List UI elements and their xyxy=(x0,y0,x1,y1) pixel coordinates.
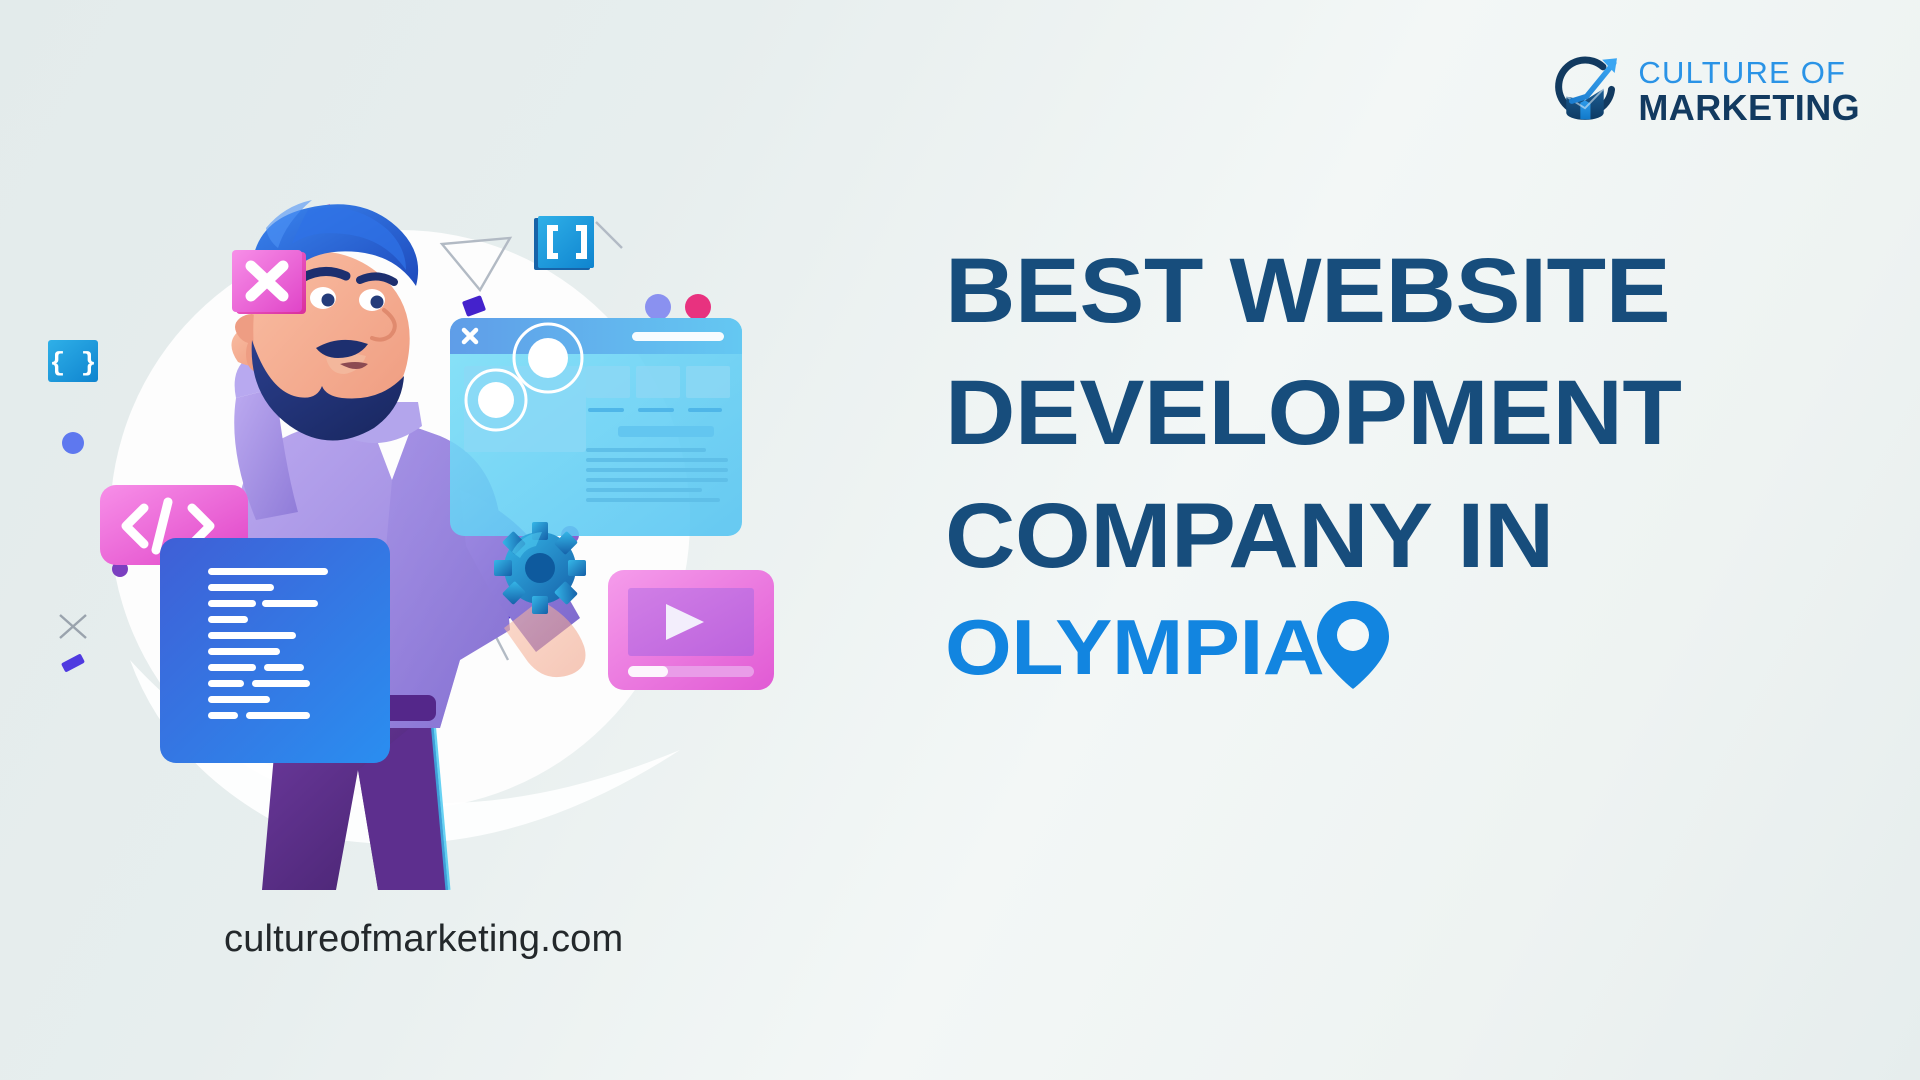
address-bar xyxy=(632,332,724,341)
video-player-card xyxy=(608,570,774,690)
browser-window-card xyxy=(450,318,742,536)
headline-line-3: COMPANY IN xyxy=(945,475,1920,597)
dot-blue xyxy=(62,432,84,454)
progress-bar xyxy=(628,666,668,677)
logo-text-line1: CULTURE OF xyxy=(1638,57,1860,88)
code-lines-card xyxy=(160,538,390,763)
headline-line-2: DEVELOPMENT xyxy=(945,352,1920,474)
headline-city-row: OLYMPIA xyxy=(945,597,1865,698)
dot-magenta xyxy=(685,294,711,320)
dash-blue xyxy=(61,653,85,672)
website-url[interactable]: cultureofmarketing.com xyxy=(224,918,623,961)
thumbnail-captions xyxy=(588,408,722,412)
headline-block: BEST WEBSITE DEVELOPMENT COMPANY IN OLYM… xyxy=(945,230,1865,698)
brand-logo[interactable]: CULTURE OF MARKETING xyxy=(1546,52,1860,130)
svg-text:{ }: { } xyxy=(50,348,97,378)
headline-line-1: BEST WEBSITE xyxy=(945,230,1920,352)
headline-city: OLYMPIA xyxy=(945,599,1324,697)
dot-periwinkle xyxy=(645,294,671,320)
close-button-card xyxy=(232,250,306,314)
square-brackets-icon xyxy=(534,216,594,270)
web-developer-illustration: { } xyxy=(40,190,920,890)
tick-mark-2 xyxy=(596,222,622,248)
cross-mark xyxy=(60,615,86,638)
logo-text-line2: MARKETING xyxy=(1638,90,1860,126)
section-heading-placeholder xyxy=(618,426,714,437)
thumbnail-cards xyxy=(586,366,730,398)
character-head xyxy=(246,200,418,441)
logo-mark-icon xyxy=(1546,52,1624,130)
